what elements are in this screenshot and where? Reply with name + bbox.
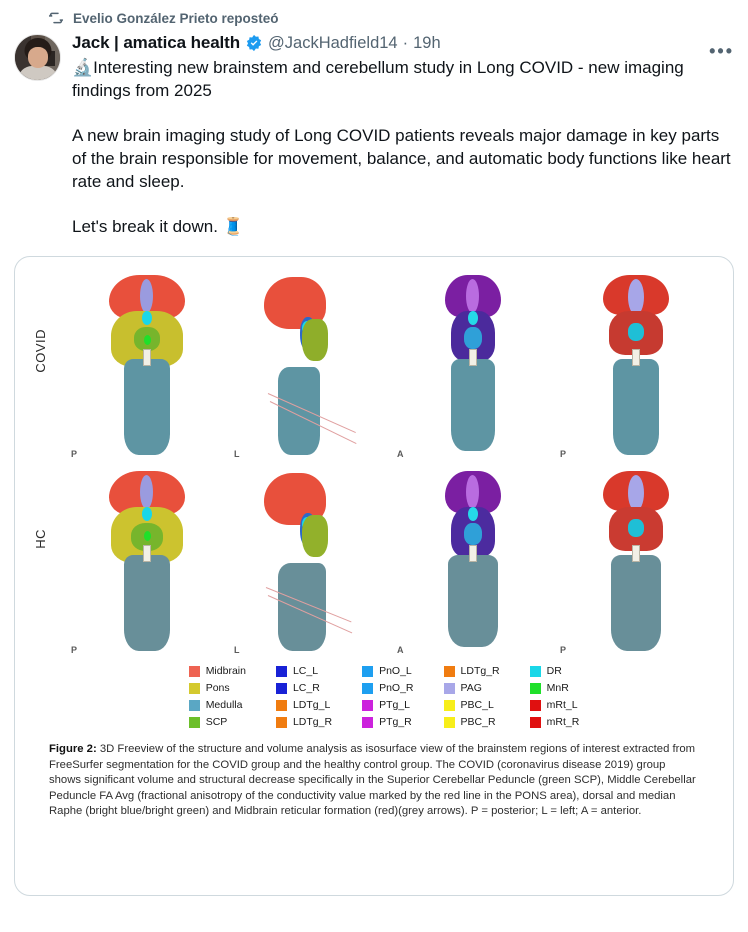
legend-swatch [362, 666, 373, 677]
legend-swatch [189, 683, 200, 694]
legend-label: PTg_R [379, 716, 412, 728]
figure-legend: Midbrain Pons Medulla SCP [31, 659, 717, 730]
orientation-marker: L [234, 645, 240, 655]
panel-hc-anterior: A [391, 467, 554, 657]
legend-swatch [189, 700, 200, 711]
orientation-marker: P [71, 449, 77, 459]
legend-item: LC_L [276, 665, 332, 677]
retweet-icon [48, 10, 64, 26]
legend-label: LDTg_L [293, 699, 330, 711]
panel-hc-lateral: L [228, 467, 391, 657]
legend-swatch [276, 683, 287, 694]
legend-item: MnR [530, 682, 580, 694]
legend-column-1: Midbrain Pons Medulla SCP [189, 665, 246, 728]
panel-covid-posterior: P [65, 271, 228, 461]
legend-label: PTg_L [379, 699, 410, 711]
author-display-name[interactable]: Jack | amatica health [72, 32, 240, 54]
row-label-covid: COVID [33, 329, 48, 373]
legend-label: PBC_L [461, 699, 494, 711]
legend-item: PBC_R [444, 716, 500, 728]
orientation-marker: P [71, 645, 77, 655]
legend-label: PnO_L [379, 665, 412, 677]
timestamp[interactable]: 19h [413, 32, 441, 54]
panel-hc-posterior: P [65, 467, 228, 657]
row-label-hc: HC [33, 529, 48, 549]
legend-swatch [444, 666, 455, 677]
legend-swatch [444, 717, 455, 728]
legend-swatch [530, 700, 541, 711]
author-handle[interactable]: @JackHadfield14 [268, 32, 398, 54]
legend-swatch [189, 717, 200, 728]
legend-label: PnO_R [379, 682, 413, 694]
verified-badge-icon [245, 34, 263, 52]
legend-label: Midbrain [206, 665, 246, 677]
panel-covid-posterior-2: P [554, 271, 717, 461]
tweet-paragraph-1: 🔬Interesting new brainstem and cerebellu… [72, 56, 734, 102]
panel-covid-anterior: A [391, 271, 554, 461]
figure-card[interactable]: COVID HC [14, 256, 734, 896]
legend-label: LC_R [293, 682, 320, 694]
panel-row-hc: P L [65, 467, 717, 657]
legend-label: mRt_R [547, 716, 580, 728]
legend-label: LC_L [293, 665, 318, 677]
legend-label: mRt_L [547, 699, 578, 711]
legend-label: PAG [461, 682, 482, 694]
legend-swatch [530, 717, 541, 728]
legend-label: MnR [547, 682, 569, 694]
legend-item: Medulla [189, 699, 246, 711]
legend-item: Pons [189, 682, 246, 694]
legend-item: LDTg_R [444, 665, 500, 677]
legend-item: Midbrain [189, 665, 246, 677]
legend-swatch [362, 683, 373, 694]
legend-swatch [362, 700, 373, 711]
tweet-container: Evelio González Prieto reposteó Jack | a… [0, 0, 748, 896]
legend-item: DR [530, 665, 580, 677]
legend-label: LDTg_R [293, 716, 332, 728]
author-line: Jack | amatica health @JackHadfield14 · … [72, 32, 734, 54]
figure-caption-label: Figure 2: [49, 743, 97, 755]
legend-item: mRt_L [530, 699, 580, 711]
legend-swatch [444, 700, 455, 711]
legend-item: mRt_R [530, 716, 580, 728]
panel-hc-posterior-2: P [554, 467, 717, 657]
legend-swatch [189, 666, 200, 677]
legend-label: LDTg_R [461, 665, 500, 677]
legend-item: LDTg_R [276, 716, 332, 728]
legend-swatch [530, 666, 541, 677]
legend-swatch [276, 666, 287, 677]
legend-label: DR [547, 665, 562, 677]
tweet-text: 🔬Interesting new brainstem and cerebellu… [72, 56, 734, 238]
legend-swatch [276, 717, 287, 728]
orientation-marker: A [397, 645, 404, 655]
legend-column-4: LDTg_R PAG PBC_L PBC_R [444, 665, 500, 728]
avatar[interactable] [14, 34, 61, 81]
legend-label: SCP [206, 716, 228, 728]
orientation-marker: P [560, 645, 566, 655]
figure-panel-grid: COVID HC [31, 271, 717, 657]
legend-item: LDTg_L [276, 699, 332, 711]
panel-row-covid: P L [65, 271, 717, 461]
legend-item: PTg_R [362, 716, 413, 728]
legend-swatch [276, 700, 287, 711]
legend-column-5: DR MnR mRt_L mRt_R [530, 665, 580, 728]
legend-column-2: LC_L LC_R LDTg_L LDTg_R [276, 665, 332, 728]
legend-item: PTg_L [362, 699, 413, 711]
legend-swatch [444, 683, 455, 694]
separator-dot: · [403, 32, 409, 54]
figure-caption: Figure 2: 3D Freeview of the structure a… [31, 730, 717, 834]
more-options-icon[interactable]: ••• [709, 42, 734, 60]
legend-label: Pons [206, 682, 230, 694]
repost-header[interactable]: Evelio González Prieto reposteó [48, 10, 734, 26]
orientation-marker: A [397, 449, 404, 459]
legend-item: PAG [444, 682, 500, 694]
legend-item: PBC_L [444, 699, 500, 711]
legend-column-3: PnO_L PnO_R PTg_L PTg_R [362, 665, 413, 728]
legend-item: SCP [189, 716, 246, 728]
row-labels: COVID HC [31, 271, 65, 657]
tweet-paragraph-3: Let's break it down. 🧵 [72, 215, 734, 238]
tweet-paragraph-2: A new brain imaging study of Long COVID … [72, 124, 734, 193]
orientation-marker: L [234, 449, 240, 459]
legend-label: Medulla [206, 699, 243, 711]
orientation-marker: P [560, 449, 566, 459]
legend-swatch [530, 683, 541, 694]
legend-label: PBC_R [461, 716, 496, 728]
legend-item: PnO_R [362, 682, 413, 694]
legend-item: LC_R [276, 682, 332, 694]
legend-swatch [362, 717, 373, 728]
figure-caption-text: 3D Freeview of the structure and volume … [49, 743, 696, 817]
panel-covid-lateral: L [228, 271, 391, 461]
legend-item: PnO_L [362, 665, 413, 677]
repost-label: Evelio González Prieto reposteó [73, 11, 279, 26]
